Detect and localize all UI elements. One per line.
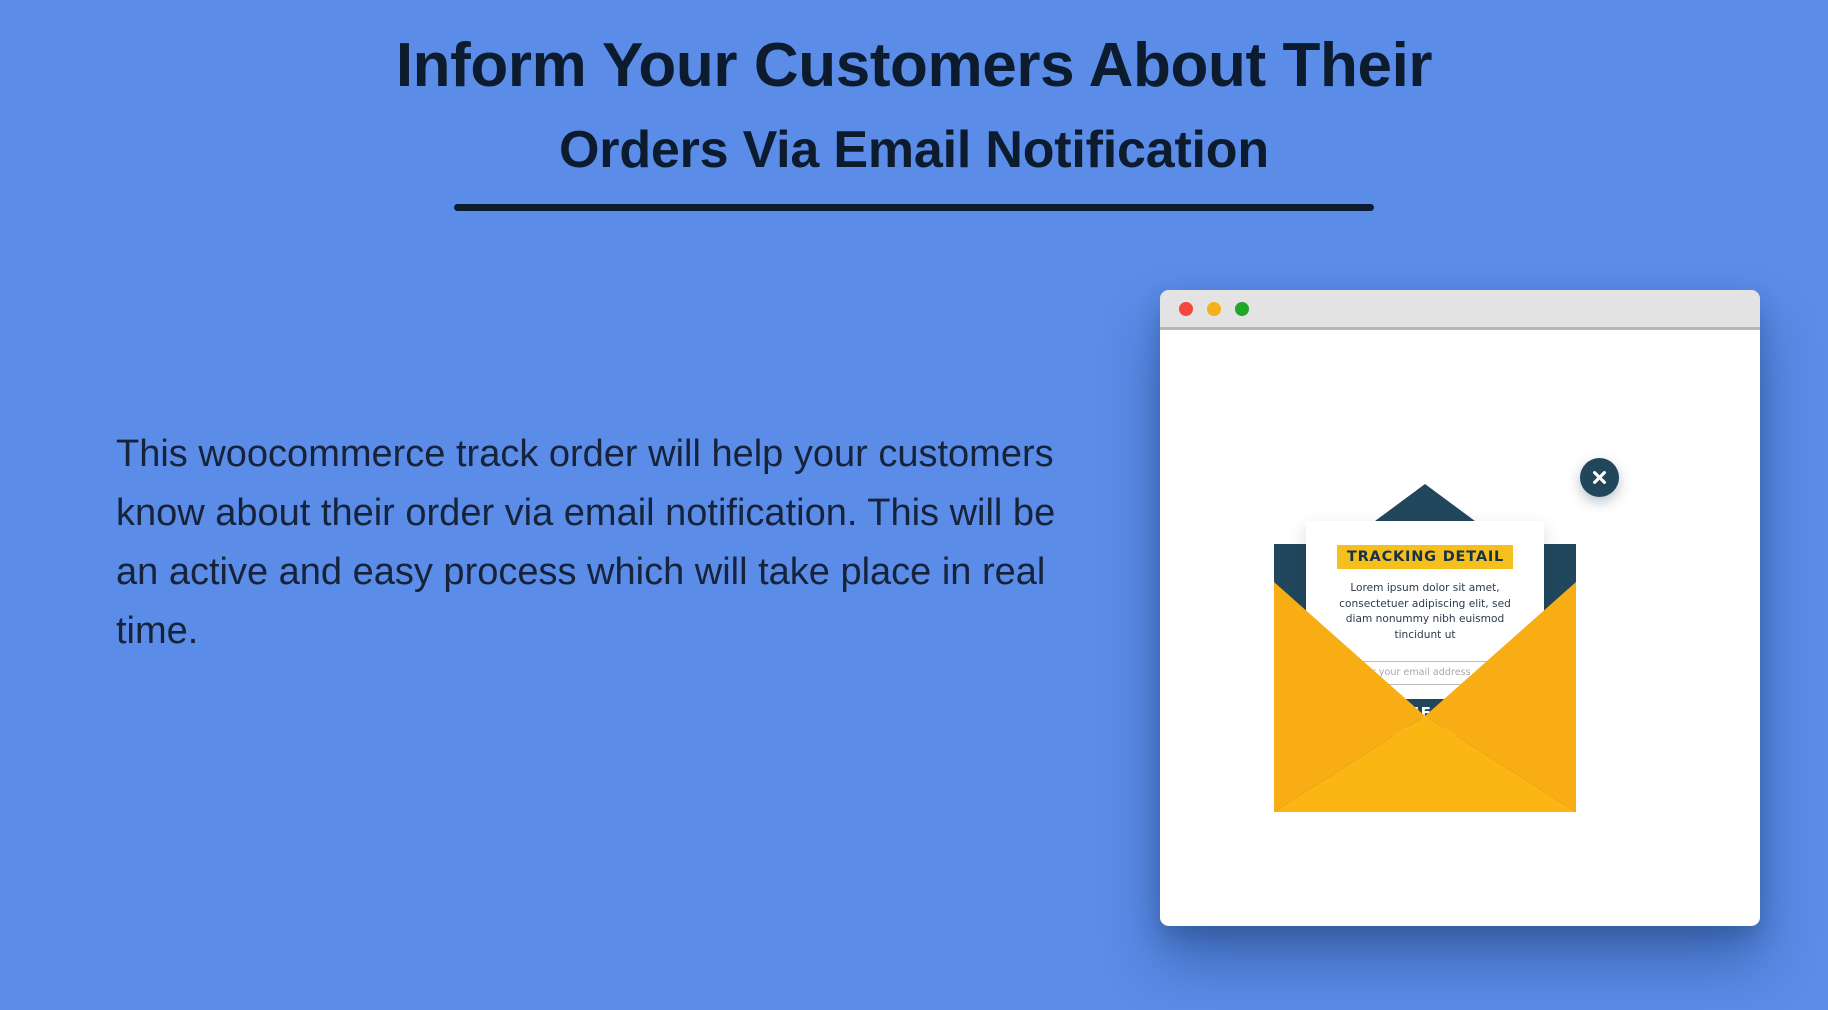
- tracking-modal-card: TRACKING DETAIL Lorem ipsum dolor sit am…: [1306, 521, 1544, 736]
- traffic-light-maximize-icon[interactable]: [1235, 302, 1249, 316]
- tracking-detail-badge: TRACKING DETAIL: [1337, 545, 1513, 569]
- body-paragraph: This woocommerce track order will help y…: [116, 425, 1061, 661]
- browser-titlebar: [1160, 290, 1760, 330]
- heading-underline-rule: [454, 204, 1374, 211]
- email-input[interactable]: [1337, 661, 1513, 685]
- page-root: Inform Your Customers About Their Orders…: [0, 0, 1828, 1010]
- browser-viewport: TRACKING DETAIL Lorem ipsum dolor sit am…: [1160, 330, 1760, 923]
- traffic-light-close-icon[interactable]: [1179, 302, 1193, 316]
- envelope-illustration: TRACKING DETAIL Lorem ipsum dolor sit am…: [1274, 484, 1576, 812]
- headline-line-2: Orders Via Email Notification: [0, 124, 1828, 178]
- traffic-light-minimize-icon[interactable]: [1207, 302, 1221, 316]
- browser-window: TRACKING DETAIL Lorem ipsum dolor sit am…: [1160, 290, 1760, 926]
- page-title: Inform Your Customers About Their Orders…: [0, 34, 1828, 211]
- tracking-description: Lorem ipsum dolor sit amet, consectetuer…: [1325, 581, 1525, 644]
- modal-close-button[interactable]: [1580, 458, 1619, 497]
- tracking-badge-wrap: TRACKING DETAIL: [1306, 545, 1544, 569]
- no-thanks-link[interactable]: No, thanks: [1306, 736, 1544, 747]
- check-button[interactable]: CHECK: [1376, 699, 1473, 728]
- headline-line-1: Inform Your Customers About Their: [0, 34, 1828, 98]
- close-x-icon: [1591, 469, 1608, 486]
